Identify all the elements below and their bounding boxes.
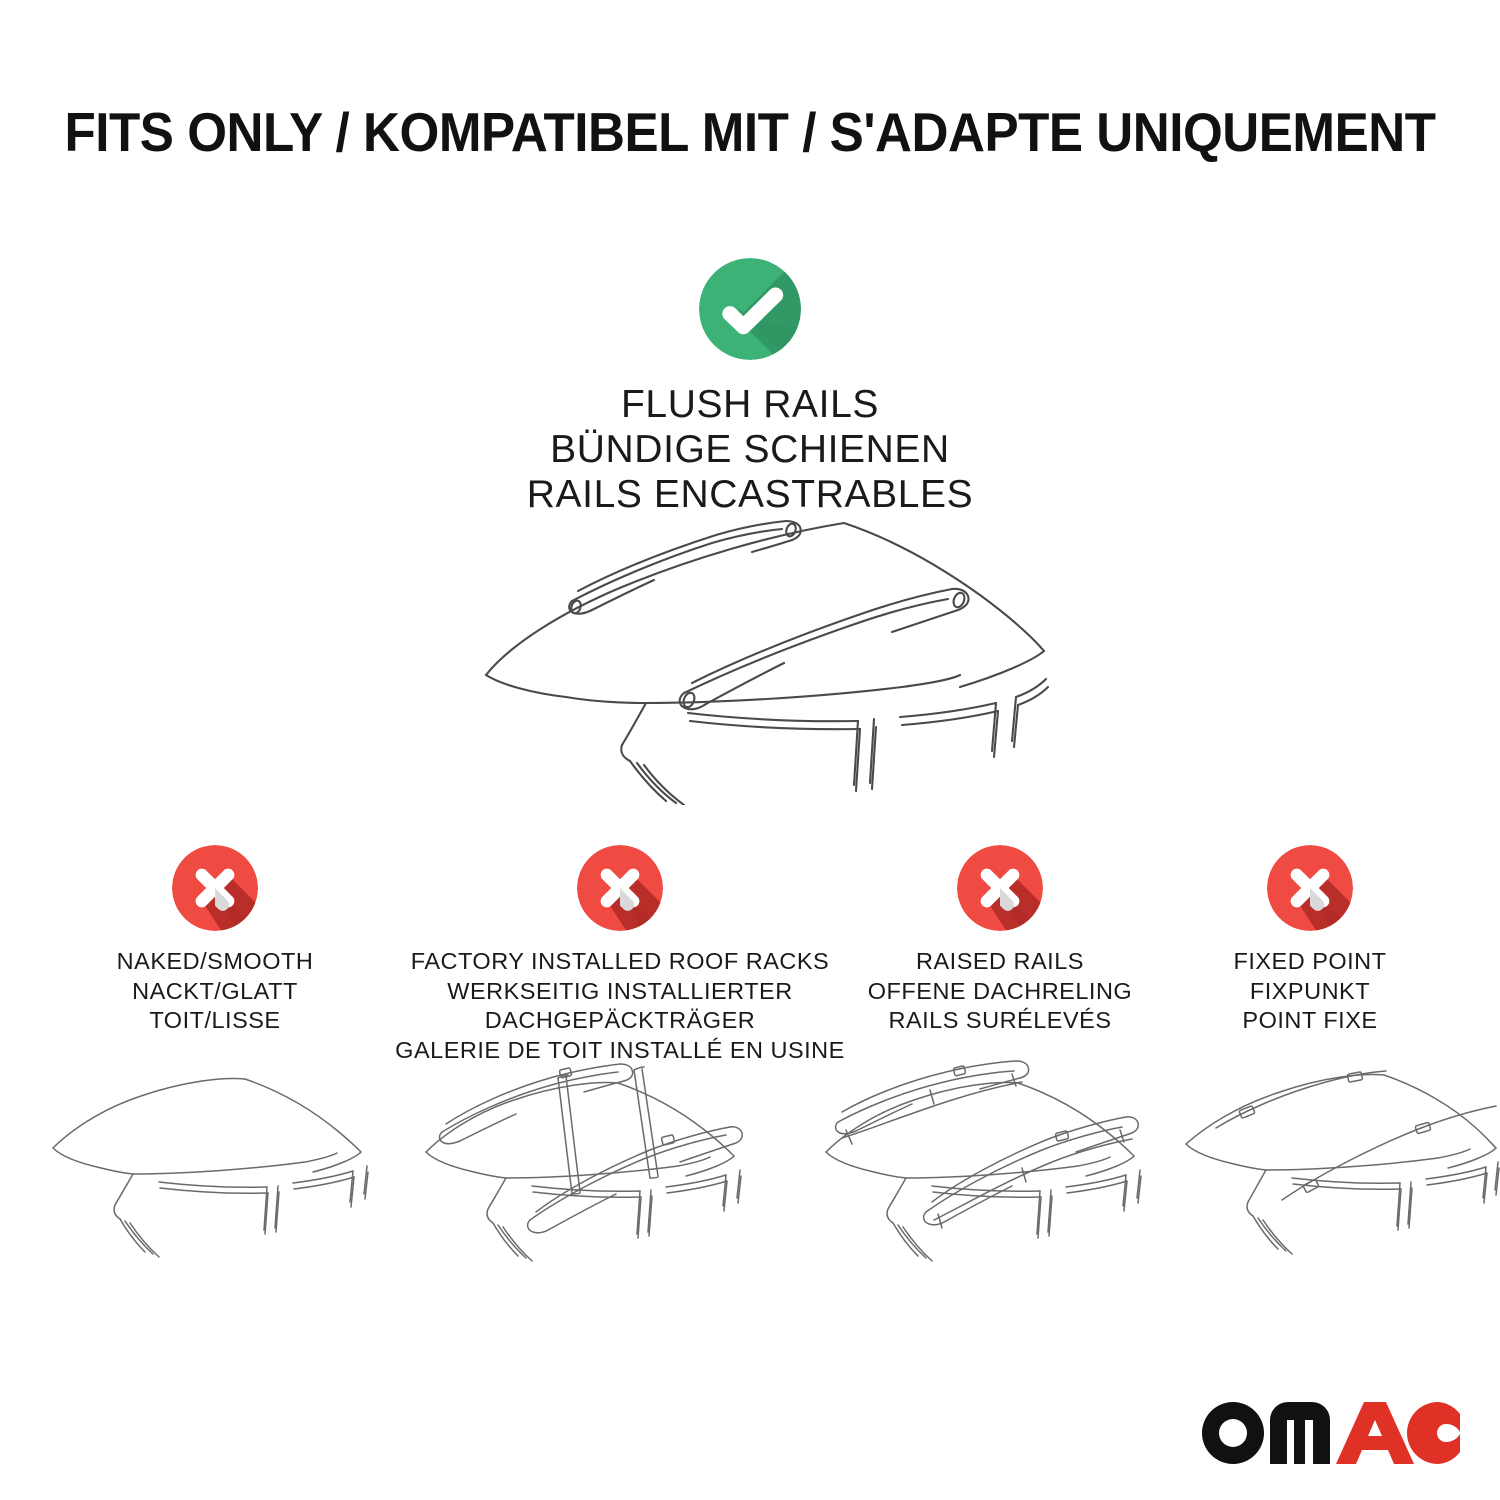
incompatible-label-line-1: NAKED/SMOOTH bbox=[117, 947, 314, 977]
incompatible-label-line-3: DACHGEPÄCKTRÄGER bbox=[395, 1006, 845, 1036]
compatible-label-line-1: FLUSH RAILS bbox=[527, 382, 973, 427]
header: FITS ONLY / KOMPATIBEL MIT / S'ADAPTE UN… bbox=[0, 104, 1500, 162]
compatible-label-line-2: BÜNDIGE SCHIENEN bbox=[527, 427, 973, 472]
incompatible-label-line-3: POINT FIXE bbox=[1233, 1006, 1386, 1036]
cross-circle-icon bbox=[172, 845, 258, 931]
incompatible-label: NAKED/SMOOTH NACKT/GLATT TOIT/LISSE bbox=[117, 947, 314, 1036]
fitment-infographic: FITS ONLY / KOMPATIBEL MIT / S'ADAPTE UN… bbox=[0, 0, 1500, 1500]
cross-circle-icon bbox=[577, 845, 663, 931]
page-title: FITS ONLY / KOMPATIBEL MIT / S'ADAPTE UN… bbox=[53, 104, 1448, 162]
compatible-section: FLUSH RAILS BÜNDIGE SCHIENEN RAILS ENCAS… bbox=[0, 258, 1500, 518]
omac-logo bbox=[1202, 1402, 1460, 1464]
car-roof-flush-rails-illustration bbox=[440, 495, 1080, 805]
incompatible-label-line-3: TOIT/LISSE bbox=[117, 1006, 314, 1036]
incompatible-label: FIXED POINT FIXPUNKT POINT FIXE bbox=[1233, 947, 1386, 1036]
cross-circle-icon bbox=[1267, 845, 1353, 931]
cross-circle-icon bbox=[957, 845, 1043, 931]
incompatible-item-raised-rails: RAISED RAILS OFFENE DACHRELING RAILS SUR… bbox=[845, 845, 1155, 1036]
incompatible-label-line-2: OFFENE DACHRELING bbox=[868, 977, 1132, 1007]
car-roof-factory-racks-illustration bbox=[412, 1052, 767, 1282]
incompatible-label-line-3: RAILS SURÉLEVÉS bbox=[868, 1006, 1132, 1036]
incompatible-label-line-1: FACTORY INSTALLED ROOF RACKS bbox=[395, 947, 845, 977]
car-roof-raised-rails-illustration bbox=[812, 1052, 1167, 1282]
incompatible-label-line-1: RAISED RAILS bbox=[868, 947, 1132, 977]
incompatible-item-naked-smooth: NAKED/SMOOTH NACKT/GLATT TOIT/LISSE bbox=[60, 845, 370, 1036]
incompatible-label-line-2: WERKSEITIG INSTALLIERTER bbox=[395, 977, 845, 1007]
incompatible-item-fixed-point: FIXED POINT FIXPUNKT POINT FIXE bbox=[1155, 845, 1465, 1036]
incompatible-label-line-2: FIXPUNKT bbox=[1233, 977, 1386, 1007]
incompatible-label: RAISED RAILS OFFENE DACHRELING RAILS SUR… bbox=[868, 947, 1132, 1036]
incompatible-label-line-1: FIXED POINT bbox=[1233, 947, 1386, 977]
incompatible-label: FACTORY INSTALLED ROOF RACKS WERKSEITIG … bbox=[395, 947, 845, 1065]
car-roof-naked-smooth-illustration bbox=[45, 1052, 375, 1282]
incompatible-label-line-2: NACKT/GLATT bbox=[117, 977, 314, 1007]
check-circle-icon bbox=[699, 258, 801, 360]
car-roof-fixed-point-illustration bbox=[1180, 1052, 1500, 1282]
incompatible-item-factory-racks: FACTORY INSTALLED ROOF RACKS WERKSEITIG … bbox=[390, 845, 850, 1065]
